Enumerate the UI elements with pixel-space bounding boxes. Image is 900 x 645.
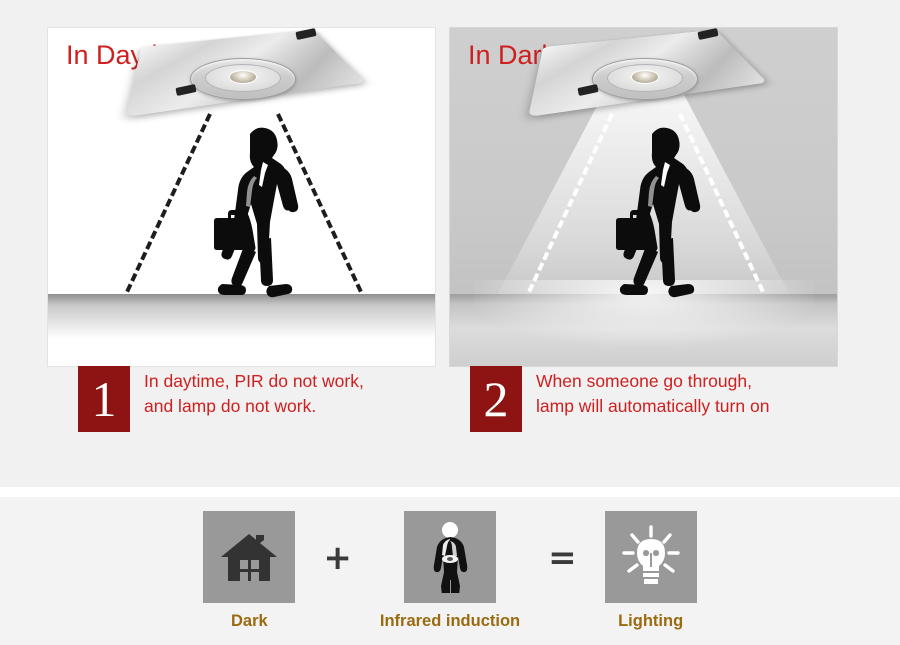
caption-2-line-2: lamp will automatically turn on (536, 394, 769, 419)
formula-item-dark: Dark (203, 511, 295, 631)
formula-item-infrared-induction: Infrared induction (380, 511, 520, 631)
caption-2: 2 When someone go through, lamp will aut… (470, 366, 769, 432)
caption-text-2: When someone go through, lamp will autom… (536, 366, 769, 419)
caption-1: 1 In daytime, PIR do not work, and lamp … (78, 366, 364, 432)
house-icon (203, 511, 295, 603)
walking-businessman-silhouette-icon (586, 118, 736, 318)
step-number-badge-1: 1 (78, 366, 130, 432)
light-bulb-icon (605, 511, 697, 603)
human-body-infrared-icon (404, 511, 496, 603)
scenes-section: In Daytime (0, 0, 900, 487)
scene-panel-dark-night: In Dark Night (450, 28, 837, 366)
ceiling-pir-lamp-icon (152, 28, 332, 122)
formula-label-dark: Dark (231, 612, 268, 631)
caption-2-line-1: When someone go through, (536, 369, 769, 394)
formula-row: Dark + Infrared induction = (0, 497, 900, 645)
ceiling-pir-lamp-icon (554, 28, 734, 122)
scene-panel-daytime: In Daytime (48, 28, 435, 366)
formula-label-infrared-induction: Infrared induction (380, 612, 520, 631)
walking-businessman-silhouette-icon (184, 118, 334, 318)
equals-operator: = (548, 541, 577, 575)
caption-1-line-1: In daytime, PIR do not work, (144, 369, 364, 394)
caption-1-line-2: and lamp do not work. (144, 394, 364, 419)
caption-text-1: In daytime, PIR do not work, and lamp do… (144, 366, 364, 419)
step-number-badge-2: 2 (470, 366, 522, 432)
formula-item-lighting: Lighting (605, 511, 697, 631)
plus-operator: + (323, 541, 352, 575)
formula-section: Dark + Infrared induction = (0, 497, 900, 645)
formula-label-lighting: Lighting (618, 612, 683, 631)
